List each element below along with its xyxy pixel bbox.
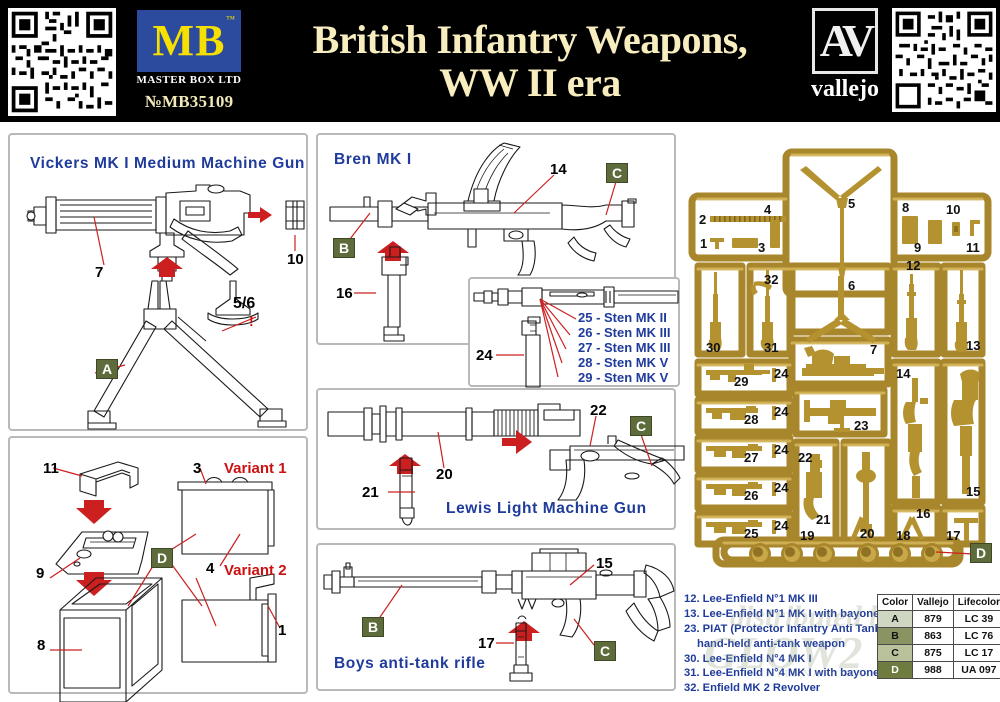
part-number-3: 3 bbox=[193, 460, 201, 477]
part-number-1: 1 bbox=[278, 622, 286, 639]
part-number-22: 22 bbox=[590, 402, 607, 419]
part-number-15: 15 bbox=[596, 555, 613, 572]
vallejo-a: 879 bbox=[913, 611, 954, 628]
part-number-20: 20 bbox=[436, 466, 453, 483]
swatch-c: C bbox=[878, 645, 913, 662]
sprue-num-5: 5 bbox=[848, 196, 855, 211]
color-marker-c-boys: C bbox=[594, 641, 616, 661]
swatch-d: D bbox=[878, 662, 913, 679]
legend-item-23: 23. PIAT (Protector Infantry Anti Tank) bbox=[684, 622, 884, 637]
panel-sten: 24 25 - Sten MK II 26 - Sten MK III 27 -… bbox=[468, 277, 680, 387]
part-number-4: 4 bbox=[206, 560, 214, 577]
instruction-sheet: MB ™ MASTER BOX LTD №MB35109 British Inf… bbox=[0, 0, 1000, 702]
legend-item-31: 31. Lee-Enfield N°4 MK I with bayonet bbox=[684, 666, 884, 681]
sprue-num-1: 1 bbox=[700, 236, 707, 251]
sprue-num-2: 2 bbox=[699, 212, 706, 227]
mb-logo-subtitle: MASTER BOX LTD bbox=[136, 74, 241, 86]
sprue-num-24-e: 24 bbox=[774, 518, 789, 533]
sprue-num-25: 25 bbox=[744, 526, 758, 541]
vallejo-name: vallejo bbox=[811, 76, 879, 103]
part-number-9: 9 bbox=[36, 565, 44, 582]
part-number-24: 24 bbox=[476, 347, 493, 364]
sten-variant-27: 27 - Sten MK III bbox=[578, 340, 670, 355]
part-number-5-6: 5/6 bbox=[233, 295, 255, 313]
part-number-17: 17 bbox=[478, 635, 495, 652]
title-line-1: British Infantry Weapons, bbox=[313, 18, 748, 61]
sprue-num-7: 7 bbox=[870, 342, 877, 357]
sten-variant-28: 28 - Sten MK V bbox=[578, 355, 668, 370]
attention-mark: ! bbox=[249, 313, 254, 329]
sten-variant-25: 25 - Sten MK II bbox=[578, 310, 667, 325]
legend-item-32: 32. Enfield MK 2 Revolver bbox=[684, 681, 884, 696]
sprue-num-3: 3 bbox=[758, 240, 765, 255]
sprue-diagram: 1 2 3 4 5 6 7 8 9 10 11 12 13 14 15 16 1… bbox=[688, 142, 992, 566]
sprue-num-4: 4 bbox=[764, 202, 772, 217]
part-number-11: 11 bbox=[43, 460, 59, 477]
panel-boys: Boys anti-tank rifle bbox=[316, 543, 676, 691]
sprue-num-31: 31 bbox=[764, 340, 778, 355]
sprue-svg: 1 2 3 4 5 6 7 8 9 10 11 12 13 14 15 16 1… bbox=[688, 142, 992, 566]
col-header-vallejo: Vallejo bbox=[913, 595, 954, 611]
sprue-num-11: 11 bbox=[966, 240, 980, 255]
qr-left-svg bbox=[8, 8, 116, 116]
sprue-num-29: 29 bbox=[734, 374, 748, 389]
part-number-8: 8 bbox=[37, 637, 45, 654]
sprue-num-24-b: 24 bbox=[774, 404, 789, 419]
sprue-num-24-a: 24 bbox=[774, 366, 789, 381]
color-marker-b-boys: B bbox=[362, 617, 384, 637]
col-header-lifecolor: Lifecolor bbox=[953, 595, 1000, 611]
lifecolor-d: UA 097 bbox=[953, 662, 1000, 679]
vallejo-mark: AV bbox=[812, 8, 878, 74]
sprue-num-14: 14 bbox=[896, 366, 911, 381]
qr-code-left bbox=[8, 8, 116, 116]
col-header-color: Color bbox=[878, 595, 913, 611]
parts-legend: 12. Lee-Enfield N°1 MK III 13. Lee-Enfie… bbox=[684, 592, 884, 696]
part-number-14: 14 bbox=[550, 161, 567, 178]
header-bar: MB ™ MASTER BOX LTD №MB35109 British Inf… bbox=[0, 0, 1000, 122]
sprue-num-6: 6 bbox=[848, 278, 855, 293]
color-table-row-b: B 863 LC 76 bbox=[878, 628, 1000, 645]
color-marker-c-bren: C bbox=[606, 163, 628, 183]
variant-2-label: Variant 2 bbox=[224, 562, 287, 579]
sprue-num-13: 13 bbox=[966, 338, 980, 353]
part-number-16: 16 bbox=[336, 285, 353, 302]
variant-1-label: Variant 1 bbox=[224, 460, 287, 477]
color-table-row-c: C 875 LC 17 bbox=[878, 645, 1000, 662]
vallejo-logo: AV vallejo bbox=[806, 8, 884, 113]
sprue-num-15: 15 bbox=[966, 484, 980, 499]
color-table-row-d: D 988 UA 097 bbox=[878, 662, 1000, 679]
sprue-num-26: 26 bbox=[744, 488, 758, 503]
sten-variant-26: 26 - Sten MK III bbox=[578, 325, 670, 340]
sprue-num-10: 10 bbox=[946, 202, 960, 217]
sprue-num-19: 19 bbox=[800, 528, 814, 543]
color-marker-a: A bbox=[96, 359, 118, 379]
sprue-num-18: 18 bbox=[896, 528, 910, 543]
master-box-logo: MB ™ MASTER BOX LTD bbox=[130, 6, 248, 90]
sprue-num-16: 16 bbox=[916, 506, 930, 521]
mb-logo-letters: MB bbox=[153, 19, 226, 63]
lifecolor-a: LC 39 bbox=[953, 611, 1000, 628]
mb-logo-plate: MB ™ bbox=[137, 10, 241, 72]
color-marker-d-ammo: D bbox=[151, 548, 173, 568]
mb-trademark-icon: ™ bbox=[226, 14, 235, 24]
sprue-num-27: 27 bbox=[744, 450, 758, 465]
legend-item-23-cont: hand-held anti-tank weapon bbox=[684, 637, 884, 652]
sprue-num-22: 22 bbox=[798, 450, 812, 465]
swatch-b: B bbox=[878, 628, 913, 645]
vallejo-b: 863 bbox=[913, 628, 954, 645]
color-table-row-a: A 879 LC 39 bbox=[878, 611, 1000, 628]
sprue-num-32: 32 bbox=[764, 272, 778, 287]
sprue-num-21: 21 bbox=[816, 512, 830, 527]
panel-lewis: Lewis Light Machine Gun bbox=[316, 388, 676, 530]
panel-vickers: Vickers MK I Medium Machine Gun bbox=[8, 133, 308, 431]
legend-item-30: 30. Lee-Enfield N°4 MK I bbox=[684, 652, 884, 667]
qr-right-svg bbox=[892, 8, 996, 112]
panel-ammo-box: 11 9 8 3 4 1 Variant 1 Variant 2 D bbox=[8, 436, 308, 694]
sprue-num-24-c: 24 bbox=[774, 442, 789, 457]
lewis-diagram bbox=[318, 390, 678, 532]
color-marker-d-sprue: D bbox=[970, 543, 992, 563]
sprue-num-30: 30 bbox=[706, 340, 720, 355]
legend-item-13: 13. Lee-Enfield N°1 MK I with bayonet bbox=[684, 607, 884, 622]
sprue-num-20: 20 bbox=[860, 526, 874, 541]
color-marker-c-lewis: C bbox=[630, 416, 652, 436]
sprue-num-28: 28 bbox=[744, 412, 758, 427]
sprue-num-23: 23 bbox=[854, 418, 868, 433]
part-number-10: 10 bbox=[287, 251, 304, 268]
legend-item-12: 12. Lee-Enfield N°1 MK III bbox=[684, 592, 884, 607]
lifecolor-b: LC 76 bbox=[953, 628, 1000, 645]
sprue-num-12: 12 bbox=[906, 258, 920, 273]
sprue-num-24-d: 24 bbox=[774, 480, 789, 495]
part-number-7: 7 bbox=[95, 264, 103, 281]
part-number-21: 21 bbox=[362, 484, 379, 501]
sprue-num-8: 8 bbox=[902, 200, 909, 215]
lifecolor-c: LC 17 bbox=[953, 645, 1000, 662]
kit-number: №MB35109 bbox=[130, 92, 248, 112]
title-line-2: WW II era bbox=[439, 61, 620, 104]
sten-variant-29: 29 - Sten MK V bbox=[578, 370, 668, 385]
sprue-num-9: 9 bbox=[914, 240, 921, 255]
vallejo-c: 875 bbox=[913, 645, 954, 662]
color-marker-b-bren: B bbox=[333, 238, 355, 258]
vallejo-d: 988 bbox=[913, 662, 954, 679]
sprue-num-17: 17 bbox=[946, 528, 960, 543]
color-table: Color Vallejo Lifecolor A 879 LC 39 B 86… bbox=[877, 594, 1000, 679]
page-title: British Infantry Weapons, WW II era bbox=[250, 6, 810, 116]
color-table-header-row: Color Vallejo Lifecolor bbox=[878, 595, 1000, 611]
vickers-diagram bbox=[10, 135, 310, 433]
qr-code-right bbox=[892, 8, 996, 112]
swatch-a: A bbox=[878, 611, 913, 628]
